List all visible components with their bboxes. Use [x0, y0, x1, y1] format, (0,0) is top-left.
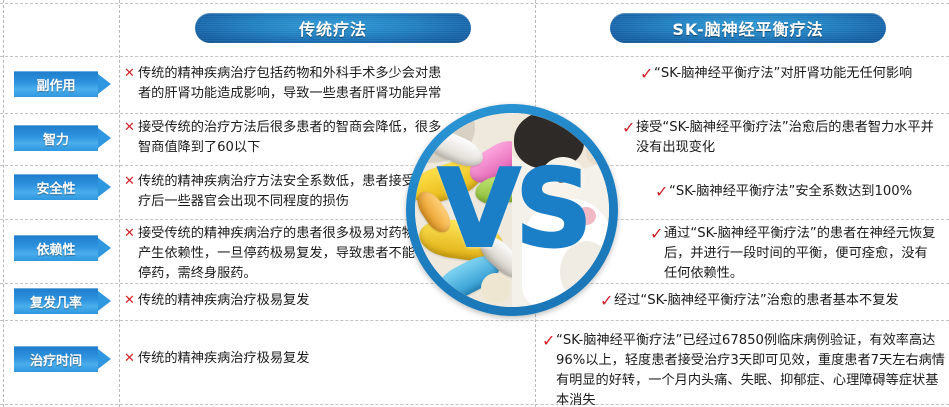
cross-icon: ✕ — [124, 118, 138, 138]
row-right-side-effects: ✓ “SK-脑神经平衡疗法”对肝肾功能无任何影响 — [640, 64, 945, 84]
tag-arrow — [98, 74, 111, 94]
row-left-dependency: ✕ 接受传统的精神疾病治疗的患者很多极易对药物产生依赖性，一旦停药极易复发，导致… — [124, 224, 424, 284]
grid-hline-r5 — [0, 320, 949, 321]
tag-arrow — [98, 177, 111, 197]
grid-vline-left-edge — [3, 0, 4, 407]
row-right-text: 通过“SK-脑神经平衡疗法”的患者在神经元恢复后，并进行一段时间的平衡，便可痊愈… — [664, 224, 940, 284]
row-tag-safety: 安全性 — [14, 174, 112, 200]
vs-label: VS — [415, 113, 609, 307]
row-tag-label: 依赖性 — [14, 235, 98, 261]
header-banner-sk-label: SK-脑神经平衡疗法 — [672, 16, 823, 40]
check-icon: ✓ — [655, 182, 669, 201]
cross-icon: ✕ — [124, 64, 138, 84]
row-left-relapse-rate: ✕ 传统的精神疾病治疗极易复发 — [124, 291, 424, 311]
row-tag-label: 治疗时间 — [14, 346, 98, 372]
row-left-text: 传统的精神疾病治疗极易复发 — [138, 349, 424, 369]
row-tag-label: 智力 — [14, 125, 98, 151]
row-right-relapse-rate: ✓ 经过“SK-脑神经平衡疗法”治愈的患者基本不复发 — [600, 291, 945, 311]
row-tag-dependency: 依赖性 — [14, 235, 112, 261]
grid-hline-header — [0, 56, 949, 57]
comparison-table: 传统疗法 SK-脑神经平衡疗法 副作用 ✕ 传统的精神疾病治疗包括药物和外科手术… — [0, 0, 949, 407]
cross-icon: ✕ — [124, 224, 138, 244]
row-tag-side-effects: 副作用 — [14, 71, 112, 97]
check-icon: ✓ — [622, 118, 636, 137]
row-right-safety: ✓ “SK-脑神经平衡疗法”安全系数达到100% — [655, 182, 945, 202]
row-left-treatment-time: ✕ 传统的精神疾病治疗极易复发 — [124, 349, 424, 369]
row-tag-intelligence: 智力 — [14, 125, 112, 151]
check-icon: ✓ — [542, 331, 556, 350]
row-left-text: 接受传统的治疗方法后很多患者的智商会降低，很多智商值降到了60以下 — [138, 118, 442, 158]
tag-arrow — [98, 349, 111, 369]
grid-hline-top — [0, 3, 949, 4]
row-right-dependency: ✓ 通过“SK-脑神经平衡疗法”的患者在神经元恢复后，并进行一段时间的平衡，便可… — [650, 224, 940, 284]
row-left-text: 传统的精神疾病治疗包括药物和外科手术多少会对患者的肝肾功能造成影响，导致一些患者… — [138, 64, 454, 104]
check-icon: ✓ — [640, 64, 654, 83]
row-tag-label: 复发几率 — [14, 288, 98, 314]
tag-arrow — [98, 291, 111, 311]
tag-arrow — [98, 128, 111, 148]
row-left-side-effects: ✕ 传统的精神疾病治疗包括药物和外科手术多少会对患者的肝肾功能造成影响，导致一些… — [124, 64, 454, 104]
row-right-text: “SK-脑神经平衡疗法”对肝肾功能无任何影响 — [654, 64, 945, 84]
cross-icon: ✕ — [124, 349, 138, 369]
row-right-treatment-time: ✓ “SK-脑神经平衡疗法”已经过67850例临床病例验证，有效率高达96%以上… — [542, 331, 945, 407]
grid-vline-tag-column — [119, 0, 120, 407]
row-tag-label: 副作用 — [14, 71, 98, 97]
row-left-text: 传统的精神疾病治疗方法安全系数低，患者接受治疗后一些器官会出现不同程度的损伤 — [138, 172, 434, 212]
check-icon: ✓ — [650, 224, 664, 243]
row-tag-relapse-rate: 复发几率 — [14, 288, 112, 314]
row-right-intelligence: ✓ 接受“SK-脑神经平衡疗法”治愈后的患者智力水平并没有出现变化 — [622, 118, 942, 158]
header-banner-sk: SK-脑神经平衡疗法 — [610, 13, 886, 43]
row-right-text: “SK-脑神经平衡疗法”已经过67850例临床病例验证，有效率高达96%以上，轻… — [556, 331, 945, 407]
tag-arrow — [98, 238, 111, 258]
row-right-text: “SK-脑神经平衡疗法”安全系数达到100% — [669, 182, 945, 202]
row-left-text: 接受传统的精神疾病治疗的患者很多极易对药物产生依赖性，一旦停药极易复发，导致患者… — [138, 224, 424, 284]
row-right-text: 接受“SK-脑神经平衡疗法”治愈后的患者智力水平并没有出现变化 — [636, 118, 942, 158]
header-banner-traditional: 传统疗法 — [195, 13, 471, 43]
header-banner-traditional-label: 传统疗法 — [299, 16, 367, 40]
vs-badge: VS — [406, 104, 618, 316]
vs-photo: VS — [415, 113, 609, 307]
row-tag-treatment-time: 治疗时间 — [14, 346, 112, 372]
row-left-text: 传统的精神疾病治疗极易复发 — [138, 291, 424, 311]
cross-icon: ✕ — [124, 172, 138, 192]
row-tag-label: 安全性 — [14, 174, 98, 200]
row-left-safety: ✕ 传统的精神疾病治疗方法安全系数低，患者接受治疗后一些器官会出现不同程度的损伤 — [124, 172, 434, 212]
row-right-text: 经过“SK-脑神经平衡疗法”治愈的患者基本不复发 — [614, 291, 945, 311]
row-left-intelligence: ✕ 接受传统的治疗方法后很多患者的智商会降低，很多智商值降到了60以下 — [124, 118, 442, 158]
cross-icon: ✕ — [124, 291, 138, 311]
